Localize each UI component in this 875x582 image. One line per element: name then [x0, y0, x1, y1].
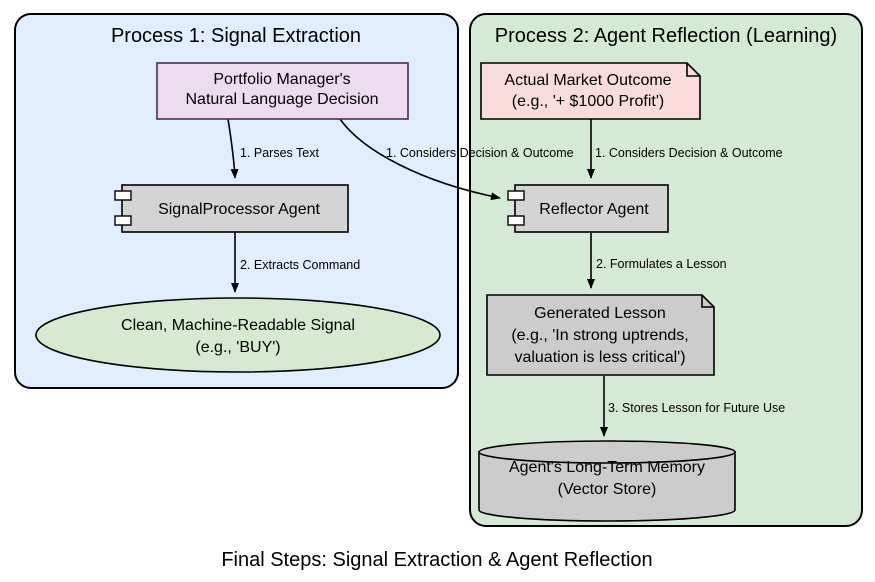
edge-parses-text-label: 1. Parses Text: [240, 146, 320, 160]
edge-considers-decision-outcome-from-outcome-label: 1. Considers Decision & Outcome: [595, 146, 783, 160]
edge-extracts-command-label: 2. Extracts Command: [240, 258, 360, 272]
node-clean-signal-ellipse: [36, 298, 440, 372]
figure-caption: Final Steps: Signal Extraction & Agent R…: [221, 549, 652, 571]
edge-stores-lesson-label: 3. Stores Lesson for Future Use: [608, 401, 785, 415]
diagram-canvas: Process 1: Signal Extraction Process 2: …: [0, 0, 875, 582]
node-actual-market-outcome-line-1: Actual Market Outcome: [504, 72, 671, 89]
component-port-icon: [508, 191, 524, 200]
node-signalprocessor-agent-label: SignalProcessor Agent: [158, 201, 320, 218]
node-generated-lesson[interactable]: Generated Lesson (e.g., 'In strong uptre…: [487, 295, 714, 375]
node-clean-signal[interactable]: Clean, Machine-Readable Signal (e.g., 'B…: [36, 298, 440, 372]
node-generated-lesson-line-1: Generated Lesson: [534, 305, 666, 322]
component-port-icon: [508, 216, 524, 225]
node-portfolio-manager-decision-line-2: Natural Language Decision: [185, 91, 378, 108]
node-clean-signal-line-1: Clean, Machine-Readable Signal: [121, 317, 355, 334]
cluster-process-2-title: Process 2: Agent Reflection (Learning): [495, 25, 837, 47]
node-agent-memory-line-1: Agent's Long-Term Memory: [509, 459, 705, 476]
node-generated-lesson-line-3: valuation is less critical'): [514, 349, 685, 366]
component-port-icon: [115, 191, 131, 200]
node-reflector-agent-label: Reflector Agent: [539, 201, 649, 218]
node-signalprocessor-agent[interactable]: SignalProcessor Agent: [115, 185, 348, 232]
cluster-process-1-title: Process 1: Signal Extraction: [111, 25, 361, 47]
node-generated-lesson-line-2: (e.g., 'In strong uptrends,: [511, 327, 688, 344]
node-portfolio-manager-decision[interactable]: Portfolio Manager's Natural Language Dec…: [157, 63, 408, 119]
node-actual-market-outcome[interactable]: Actual Market Outcome (e.g., '+ $1000 Pr…: [481, 63, 700, 119]
node-reflector-agent[interactable]: Reflector Agent: [508, 185, 668, 232]
node-actual-market-outcome-line-2: (e.g., '+ $1000 Profit'): [512, 93, 664, 110]
node-portfolio-manager-decision-line-1: Portfolio Manager's: [213, 71, 350, 88]
edge-formulates-lesson-label: 2. Formulates a Lesson: [596, 257, 727, 271]
node-agent-memory[interactable]: Agent's Long-Term Memory (Vector Store): [479, 441, 735, 521]
edge-considers-decision-outcome-from-decision-label: 1. Considers Decision & Outcome: [386, 146, 574, 160]
node-clean-signal-line-2: (e.g., 'BUY'): [195, 339, 280, 356]
node-agent-memory-line-2: (Vector Store): [558, 481, 657, 498]
component-port-icon: [115, 216, 131, 225]
